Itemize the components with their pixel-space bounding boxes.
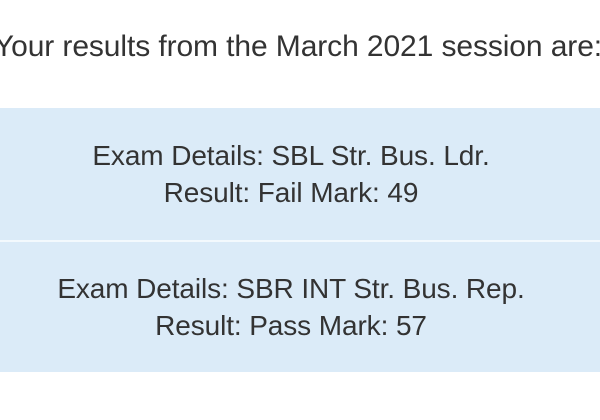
results-page: Your results from the March 2021 session… xyxy=(0,0,600,420)
result-mark-line: Result: Fail Mark: 49 xyxy=(164,174,419,211)
result-block: Exam Details: SBR INT Str. Bus. Rep. Res… xyxy=(0,242,600,372)
heading-area: Your results from the March 2021 session… xyxy=(0,0,600,108)
result-block: Exam Details: SBL Str. Bus. Ldr. Result:… xyxy=(0,108,600,240)
result-mark-line: Result: Pass Mark: 57 xyxy=(155,307,427,344)
results-panel: Exam Details: SBL Str. Bus. Ldr. Result:… xyxy=(0,108,600,372)
footer-blank-area xyxy=(0,372,600,420)
page-title: Your results from the March 2021 session… xyxy=(0,30,600,64)
exam-details-line: Exam Details: SBR INT Str. Bus. Rep. xyxy=(57,270,524,307)
exam-details-line: Exam Details: SBL Str. Bus. Ldr. xyxy=(92,137,489,174)
